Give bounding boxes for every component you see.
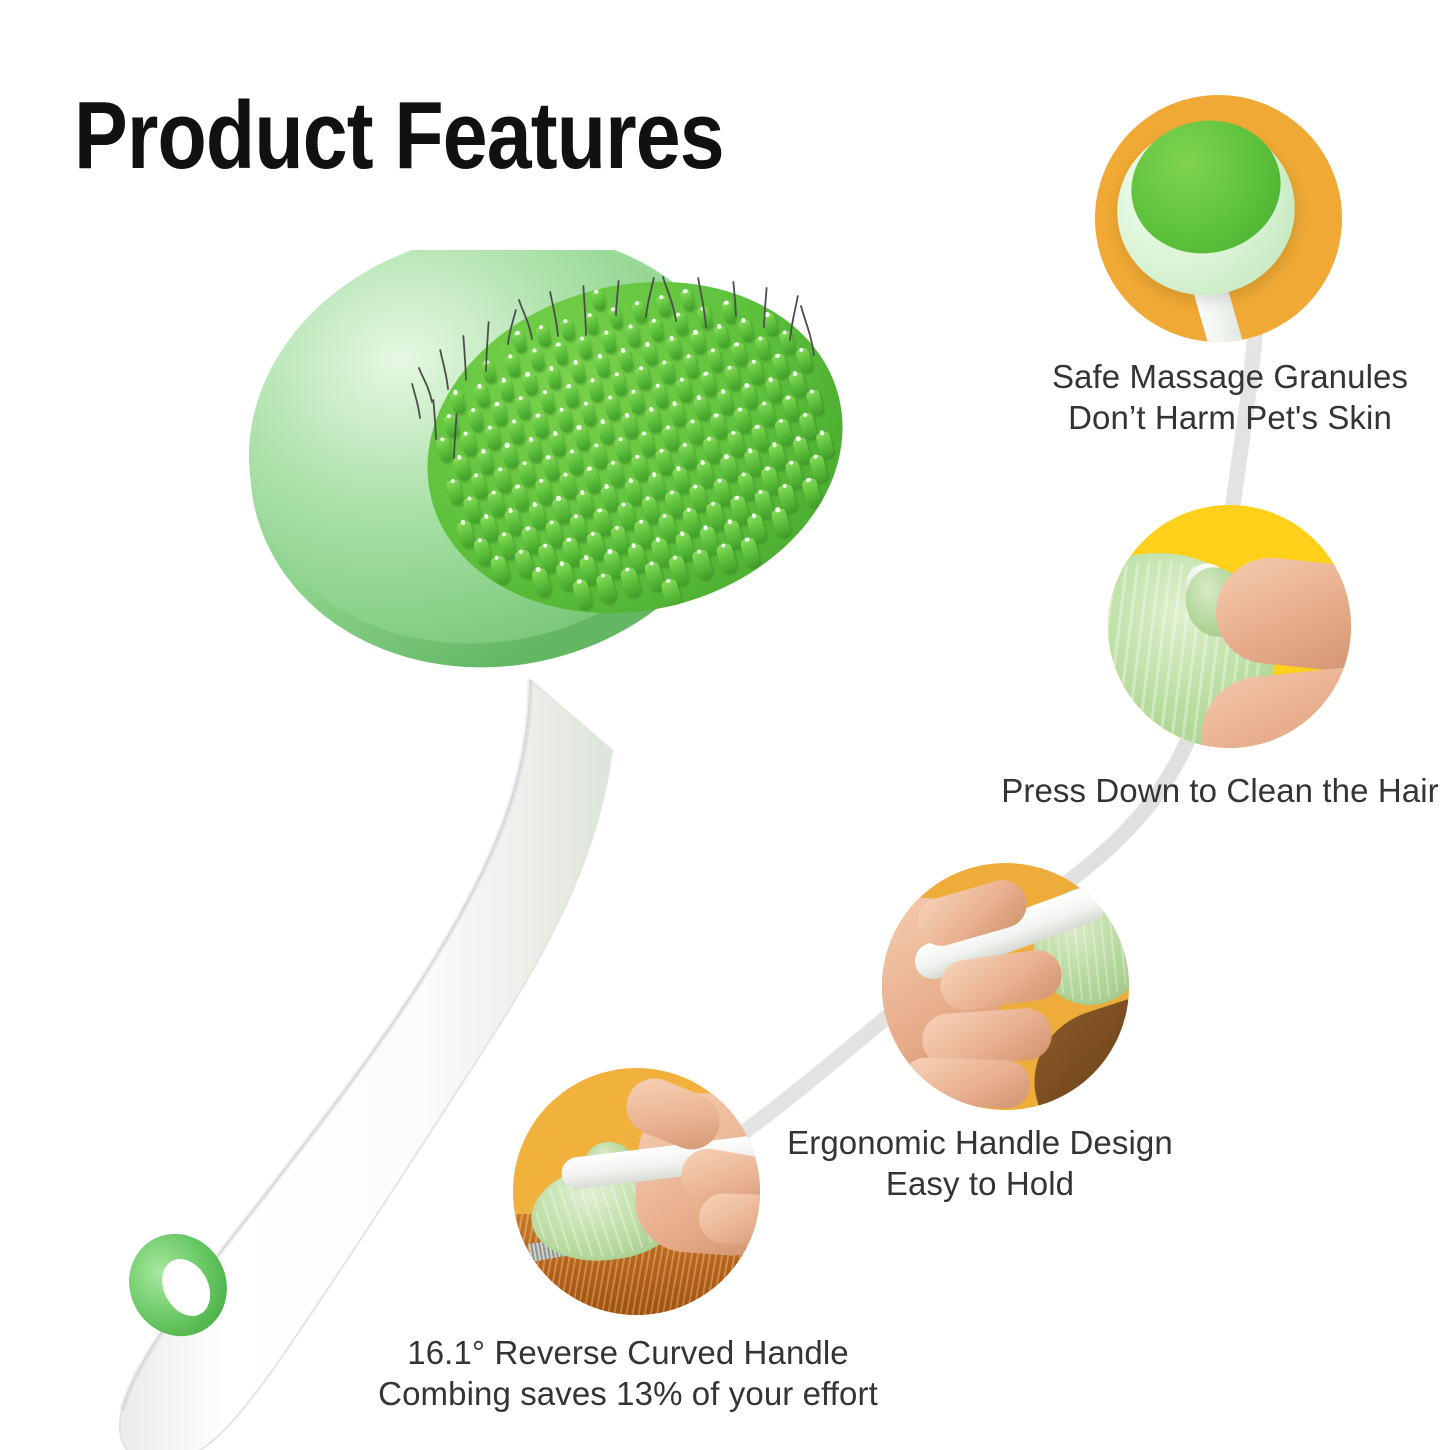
inset4-finger-3: [698, 1193, 760, 1246]
caption-press-down: Press Down to Clean the Hair: [990, 770, 1445, 811]
inset-press-down: [1108, 505, 1351, 748]
inset-reverse-curved-handle: [513, 1068, 760, 1315]
inset-ergonomic-handle: [882, 863, 1129, 1110]
inset3-finger-4: [901, 1057, 1031, 1109]
brush-metal-pins: [390, 250, 890, 550]
caption-safe-massage-granules: Safe Massage Granules Don’t Harm Pet's S…: [1020, 356, 1440, 438]
inset-safe-massage-granules: [1095, 95, 1342, 342]
infographic-stage: Product Features: [0, 0, 1445, 1445]
caption-reverse-curved-handle: 16.1° Reverse Curved Handle Combing save…: [368, 1332, 888, 1414]
hero-product: [60, 250, 910, 1450]
caption-ergonomic-handle: Ergonomic Handle Design Easy to Hold: [780, 1122, 1180, 1204]
page-title: Product Features: [74, 86, 724, 186]
